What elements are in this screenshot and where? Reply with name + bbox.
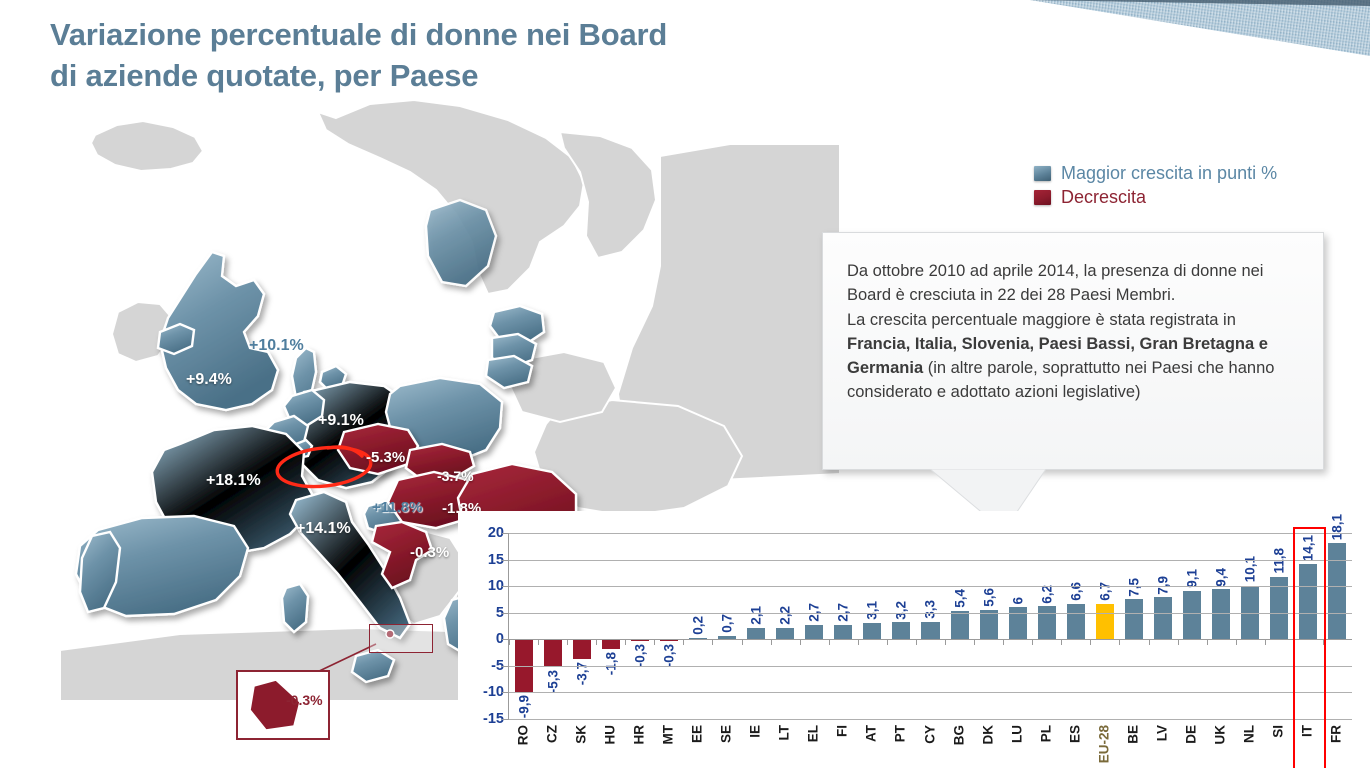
chart-x-label-pt: PT xyxy=(893,725,908,742)
chart-x-tick xyxy=(771,639,772,645)
chart-x-label-at: AT xyxy=(864,725,879,742)
bar-chart: 20151050-5-10-15 -9,9-5,3-3,7-1,8-0,3-0,… xyxy=(458,511,1358,768)
chart-y-tick-label: -5 xyxy=(458,658,504,674)
chart-x-tick xyxy=(509,639,510,645)
legend-item-decline: Decrescita xyxy=(1034,187,1277,208)
chart-bar-ee[interactable]: 0,2 xyxy=(689,533,707,719)
chart-bar-value-label: 3,3 xyxy=(923,600,938,619)
chart-y-tick-label: 15 xyxy=(458,552,504,568)
chart-bar-cz[interactable]: -5,3 xyxy=(544,533,562,719)
chart-x-tick xyxy=(974,639,975,645)
chart-bar-value-label: 11,8 xyxy=(1272,548,1287,574)
chart-bar-ro[interactable]: -9,9 xyxy=(515,533,533,719)
chart-bar-rect xyxy=(1067,604,1085,639)
chart-bar-value-label: 0,7 xyxy=(720,614,735,633)
chart-x-tick xyxy=(1236,639,1237,645)
chart-bar-ie[interactable]: 2,1 xyxy=(747,533,765,719)
chart-bar-rect xyxy=(863,623,881,639)
chart-x-tick xyxy=(1119,639,1120,645)
chart-x-tick xyxy=(887,639,888,645)
chart-bars: -9,9-5,3-3,7-1,8-0,3-0,30,20,72,12,22,72… xyxy=(509,533,1352,719)
chart-x-tick xyxy=(916,639,917,645)
chart-bar-it[interactable]: 14,1 xyxy=(1299,533,1317,719)
chart-bar-rect xyxy=(1212,589,1230,639)
chart-x-label-lt: LT xyxy=(777,725,792,741)
chart-bar-value-label: 6,2 xyxy=(1039,585,1054,604)
chart-x-tick xyxy=(712,639,713,645)
chart-bar-value-label: 6 xyxy=(1010,597,1025,605)
chart-x-label-bg: BG xyxy=(951,725,966,745)
chart-x-tick xyxy=(1323,639,1324,645)
chart-bar-mt[interactable]: -0,3 xyxy=(660,533,678,719)
legend-item-growth: Maggior crescita in punti % xyxy=(1034,163,1277,184)
chart-bar-es[interactable]: 6,6 xyxy=(1067,533,1085,719)
chart-x-tick xyxy=(654,639,655,645)
chart-bar-value-label: 9,4 xyxy=(1214,568,1229,587)
chart-bar-lv[interactable]: 7,9 xyxy=(1154,533,1172,719)
chart-x-label-el: EL xyxy=(806,725,821,742)
chart-bar-rect xyxy=(1096,604,1114,640)
chart-bar-si[interactable]: 11,8 xyxy=(1270,533,1288,719)
corner-wedge-decoration xyxy=(1018,0,1370,62)
chart-y-tick-label: 0 xyxy=(458,631,504,647)
chart-x-tick xyxy=(1090,639,1091,645)
chart-x-tick xyxy=(683,639,684,645)
chart-x-label-hr: HR xyxy=(631,725,646,745)
map-legend: Maggior crescita in punti % Decrescita xyxy=(1034,163,1277,211)
malta-inset-value: -0.3% xyxy=(286,692,323,708)
chart-y-tick-20 xyxy=(502,533,509,534)
chart-bar-at[interactable]: 3,1 xyxy=(863,533,881,719)
callout-box: Da ottobre 2010 ad aprile 2014, la prese… xyxy=(822,232,1324,470)
chart-x-label-cz: CZ xyxy=(544,725,559,743)
chart-x-tick xyxy=(538,639,539,645)
chart-x-label-fi: FI xyxy=(835,725,850,737)
chart-x-axis-labels: ROCZSKHUHRMTEESEIELTELFIATPTCYBGDKLUPLES… xyxy=(508,725,1352,768)
chart-bar-rect xyxy=(1038,606,1056,639)
legend-label-growth: Maggior crescita in punti % xyxy=(1061,163,1277,184)
malta-inset-detail-box: -0.3% xyxy=(236,670,330,740)
chart-bar-rect xyxy=(834,625,852,639)
chart-gridline-5 xyxy=(509,613,1352,614)
chart-x-tick xyxy=(1032,639,1033,645)
chart-y-tick-5 xyxy=(502,613,509,614)
chart-bar-rect xyxy=(1328,543,1346,639)
chart-y-tick-label: 20 xyxy=(458,525,504,541)
chart-bar-se[interactable]: 0,7 xyxy=(718,533,736,719)
chart-bar-de[interactable]: 9,1 xyxy=(1183,533,1201,719)
chart-x-label-ro: RO xyxy=(515,725,530,745)
chart-bar-value-label: 3,2 xyxy=(894,601,909,620)
chart-bar-value-label: 6,7 xyxy=(1097,582,1112,601)
chart-x-label-fr: FR xyxy=(1329,725,1344,743)
chart-gridline--5 xyxy=(509,666,1352,667)
chart-x-tick xyxy=(1265,639,1266,645)
chart-bar-value-label: 18,1 xyxy=(1330,514,1345,540)
chart-bar-rect xyxy=(544,639,562,667)
chart-y-tick--15 xyxy=(502,719,509,720)
chart-x-tick xyxy=(1003,639,1004,645)
callout-p2-before: La crescita percentuale maggiore è stata… xyxy=(847,311,1236,329)
chart-bar-pl[interactable]: 6,2 xyxy=(1038,533,1056,719)
chart-bar-el[interactable]: 2,7 xyxy=(805,533,823,719)
legend-swatch-growth-icon xyxy=(1034,166,1051,181)
chart-y-tick-label: -10 xyxy=(458,684,504,700)
chart-x-label-pl: PL xyxy=(1038,725,1053,742)
chart-x-tick xyxy=(1149,639,1150,645)
chart-bar-value-label: 0,2 xyxy=(690,616,705,635)
chart-x-label-se: SE xyxy=(719,725,734,743)
chart-gridline--15 xyxy=(509,719,1352,720)
chart-bar-value-label: -1,8 xyxy=(603,652,618,675)
chart-gridline-20 xyxy=(509,533,1352,534)
chart-x-label-mt: MT xyxy=(660,725,675,745)
chart-x-tick xyxy=(1178,639,1179,645)
chart-bar-rect xyxy=(951,611,969,640)
chart-bar-uk[interactable]: 9,4 xyxy=(1212,533,1230,719)
chart-bar-pt[interactable]: 3,2 xyxy=(892,533,910,719)
chart-gridline-10 xyxy=(509,586,1352,587)
chart-x-label-ie: IE xyxy=(748,725,763,738)
chart-bar-rect xyxy=(892,622,910,639)
chart-bar-be[interactable]: 7,5 xyxy=(1125,533,1143,719)
chart-x-label-nl: NL xyxy=(1242,725,1257,743)
chart-y-tick-15 xyxy=(502,560,509,561)
chart-y-tick-0 xyxy=(502,639,509,640)
chart-gridline--10 xyxy=(509,692,1352,693)
chart-x-tick xyxy=(567,639,568,645)
chart-bar-rect xyxy=(921,622,939,640)
legend-swatch-decline-icon xyxy=(1034,190,1051,205)
chart-bar-value-label: 5,6 xyxy=(981,588,996,607)
chart-y-tick-label: 5 xyxy=(458,605,504,621)
chart-x-label-eu-28: EU-28 xyxy=(1096,725,1111,763)
chart-x-label-cy: CY xyxy=(922,725,937,744)
chart-bar-rect xyxy=(1154,597,1172,639)
chart-y-tick--5 xyxy=(502,666,509,667)
chart-x-tick xyxy=(1294,639,1295,645)
chart-bar-value-label: 9,1 xyxy=(1185,569,1200,588)
chart-gridline-15 xyxy=(509,560,1352,561)
chart-y-tick-10 xyxy=(502,586,509,587)
chart-x-label-es: ES xyxy=(1067,725,1082,743)
callout-paragraph-2: La crescita percentuale maggiore è stata… xyxy=(847,308,1301,405)
chart-bar-rect xyxy=(1125,599,1143,639)
chart-bar-lu[interactable]: 6 xyxy=(1009,533,1027,719)
chart-x-label-be: BE xyxy=(1125,725,1140,744)
chart-x-label-si: SI xyxy=(1271,725,1286,738)
chart-x-label-ee: EE xyxy=(689,725,704,743)
chart-bar-rect xyxy=(776,628,794,640)
chart-bar-value-label: 2,1 xyxy=(749,606,764,625)
chart-x-label-lu: LU xyxy=(1009,725,1024,743)
malta-inset-locator-box xyxy=(369,624,433,653)
chart-x-tick xyxy=(596,639,597,645)
chart-y-tick-label: 10 xyxy=(458,578,504,594)
chart-bar-value-label: 2,2 xyxy=(778,606,793,625)
chart-x-tick xyxy=(945,639,946,645)
chart-bar-cy[interactable]: 3,3 xyxy=(921,533,939,719)
chart-bar-value-label: -0,3 xyxy=(632,644,647,667)
callout-paragraph-1: Da ottobre 2010 ad aprile 2014, la prese… xyxy=(847,259,1301,308)
chart-x-label-de: DE xyxy=(1184,725,1199,744)
chart-x-tick xyxy=(800,639,801,645)
chart-gridline-0 xyxy=(509,639,1352,640)
chart-bar-rect xyxy=(747,628,765,639)
page-title-line-1: Variazione percentuale di donne nei Boar… xyxy=(50,14,910,55)
chart-x-label-sk: SK xyxy=(573,725,588,744)
chart-x-label-hu: HU xyxy=(602,725,617,745)
chart-bar-rect xyxy=(1299,564,1317,639)
slide-canvas: Variazione percentuale di donne nei Boar… xyxy=(0,0,1370,768)
chart-bar-rect xyxy=(980,610,998,640)
chart-y-tick--10 xyxy=(502,692,509,693)
chart-bar-value-label: -5,3 xyxy=(545,670,560,693)
chart-x-tick xyxy=(1061,639,1062,645)
chart-bar-dk[interactable]: 5,6 xyxy=(980,533,998,719)
chart-bar-value-label: 3,1 xyxy=(865,601,880,620)
chart-bar-rect xyxy=(805,625,823,639)
chart-bar-rect xyxy=(1183,591,1201,639)
chart-x-label-lv: LV xyxy=(1155,725,1170,741)
chart-bar-value-label: -0,3 xyxy=(661,644,676,667)
chart-bar-rect xyxy=(573,639,591,659)
chart-x-tick xyxy=(742,639,743,645)
chart-bar-eu-28[interactable]: 6,7 xyxy=(1096,533,1114,719)
chart-bar-nl[interactable]: 10,1 xyxy=(1241,533,1259,719)
chart-x-label-uk: UK xyxy=(1213,725,1228,745)
chart-x-tick xyxy=(858,639,859,645)
chart-x-tick xyxy=(625,639,626,645)
chart-bar-sk[interactable]: -3,7 xyxy=(573,533,591,719)
chart-x-tick xyxy=(1207,639,1208,645)
chart-bar-hu[interactable]: -1,8 xyxy=(602,533,620,719)
chart-bar-fr[interactable]: 18,1 xyxy=(1328,533,1346,719)
chart-x-label-dk: DK xyxy=(980,725,995,745)
chart-plot-area: -9,9-5,3-3,7-1,8-0,3-0,30,20,72,12,22,72… xyxy=(508,533,1352,719)
legend-label-decline: Decrescita xyxy=(1061,187,1146,208)
chart-y-axis-labels: 20151050-5-10-15 xyxy=(458,511,504,719)
chart-bar-fi[interactable]: 2,7 xyxy=(834,533,852,719)
chart-y-tick-label: -15 xyxy=(458,711,504,727)
chart-x-label-it: IT xyxy=(1300,725,1315,737)
chart-bar-bg[interactable]: 5,4 xyxy=(951,533,969,719)
chart-bar-value-label: 7,9 xyxy=(1156,576,1171,595)
chart-bar-value-label: 5,4 xyxy=(952,589,967,608)
chart-bar-rect xyxy=(602,639,620,649)
chart-bar-value-label: 14,1 xyxy=(1301,535,1316,561)
chart-bar-lt[interactable]: 2,2 xyxy=(776,533,794,719)
chart-x-tick xyxy=(829,639,830,645)
chart-bar-hr[interactable]: -0,3 xyxy=(631,533,649,719)
chart-bar-value-label: -9,9 xyxy=(516,695,531,718)
